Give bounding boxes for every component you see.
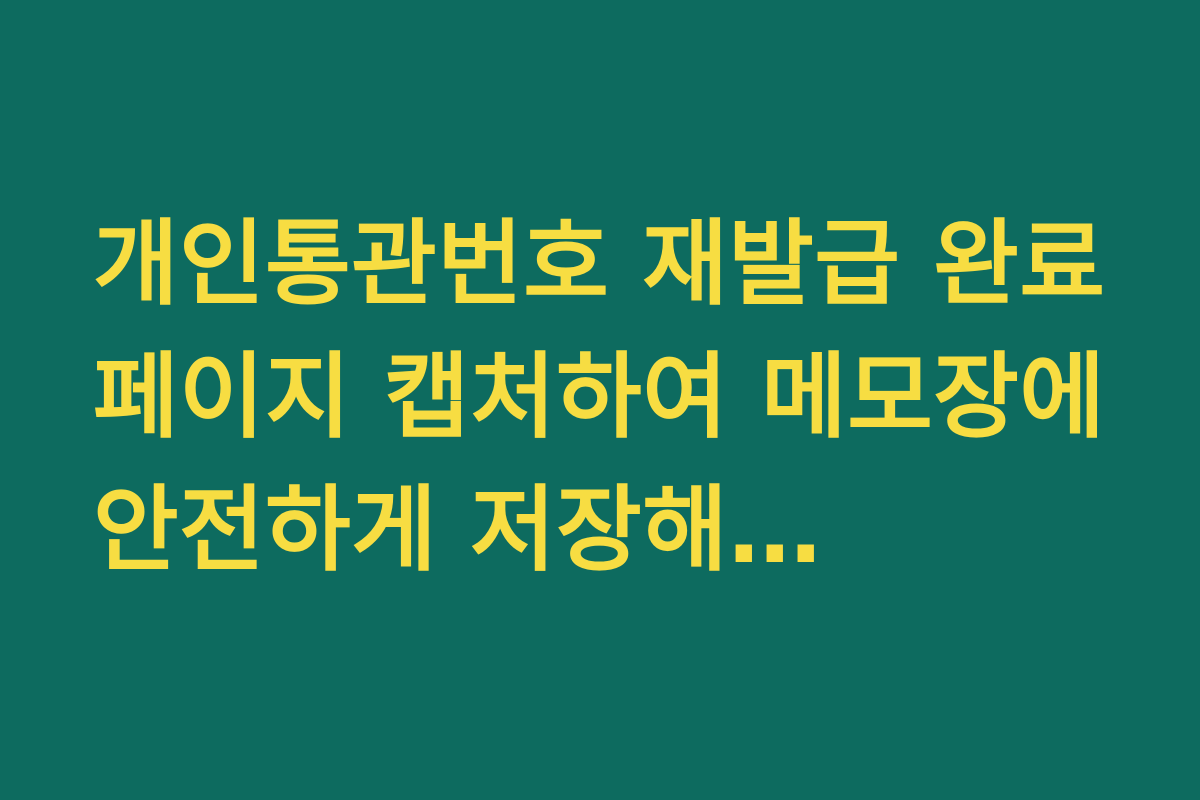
- headline-block: 개인통관번호 재발급 완료 페이지 캡처하여 메모장에 안전하게 저장해…: [0, 198, 1200, 597]
- headline-text: 개인통관번호 재발급 완료 페이지 캡처하여 메모장에 안전하게 저장해…: [93, 198, 1108, 597]
- text-card: 개인통관번호 재발급 완료 페이지 캡처하여 메모장에 안전하게 저장해…: [0, 0, 1200, 800]
